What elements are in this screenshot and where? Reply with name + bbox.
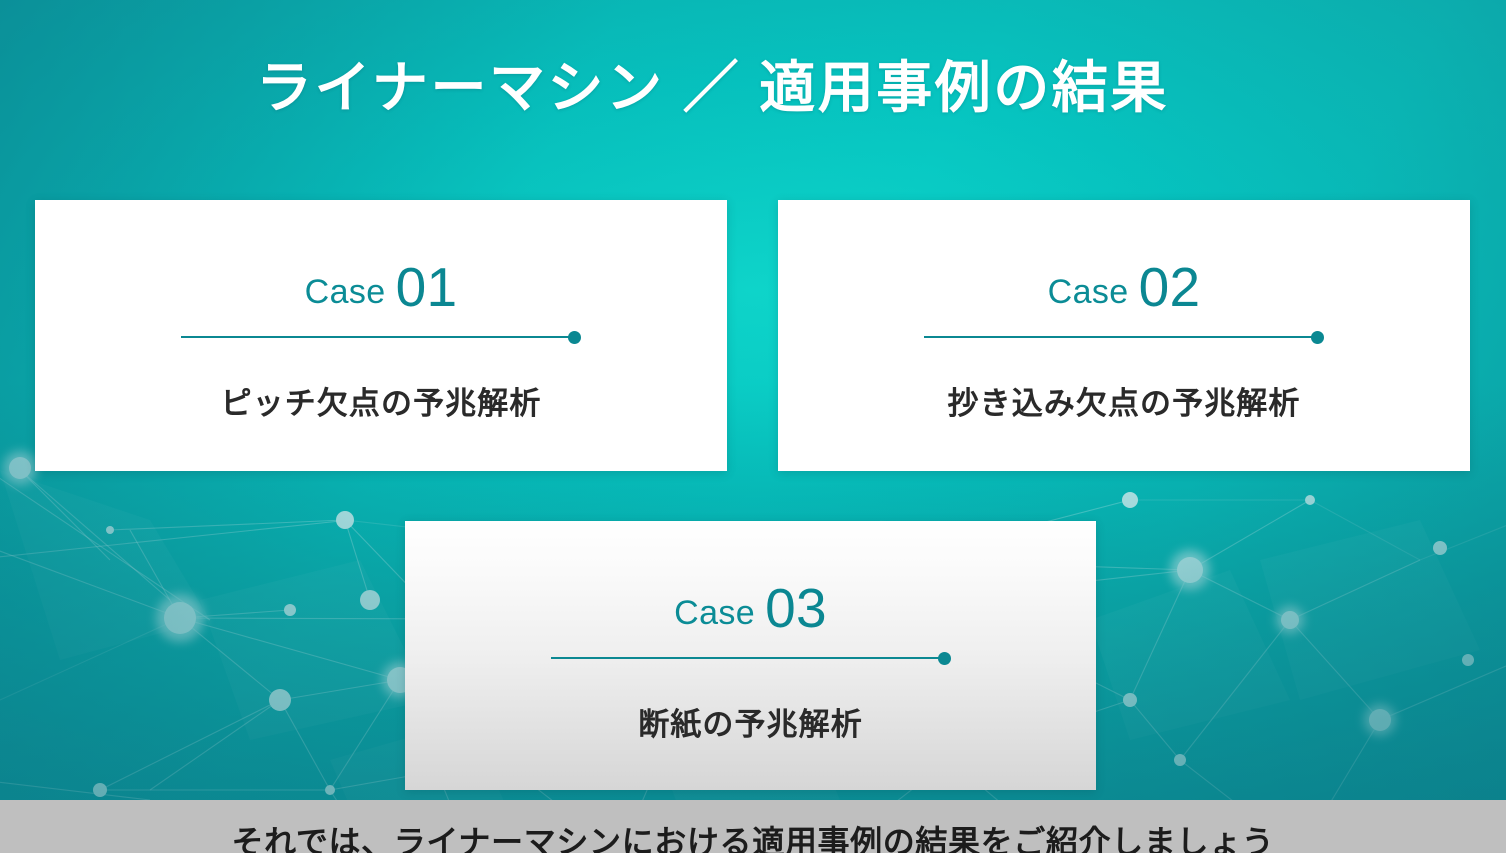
case-card-01-content: Case 01 ピッチ欠点の予兆解析	[181, 252, 581, 423]
subtitle-text: それでは、ライナーマシンにおける適用事例の結果をご紹介しましょう	[232, 826, 1275, 853]
case-card-02[interactable]: Case 02 抄き込み欠点の予兆解析	[778, 200, 1470, 471]
case-card-01-heading: Case 01	[181, 252, 581, 316]
case-card-03-rule	[551, 650, 951, 666]
subtitle-bar: それでは、ライナーマシンにおける適用事例の結果をご紹介しましょう	[0, 800, 1506, 853]
rule-line	[551, 657, 941, 659]
case-card-02-caption: 抄き込み欠点の予兆解析	[924, 378, 1324, 423]
page-title: ライナーマシン ／ 適用事例の結果	[256, 55, 1169, 121]
case-card-03-heading: Case 03	[551, 573, 951, 637]
case-card-01[interactable]: Case 01 ピッチ欠点の予兆解析	[35, 200, 727, 471]
case-card-01-caption: ピッチ欠点の予兆解析	[181, 378, 581, 423]
case-number: 02	[1139, 255, 1201, 319]
case-number: 03	[765, 576, 827, 640]
case-card-02-rule	[924, 329, 1324, 345]
rule-end-dot-icon	[568, 331, 581, 344]
case-card-02-heading: Case 02	[924, 252, 1324, 316]
case-label: Case	[305, 273, 386, 312]
rule-end-dot-icon	[938, 652, 951, 665]
rule-line	[924, 336, 1314, 338]
case-label: Case	[674, 594, 755, 633]
case-card-03-caption: 断紙の予兆解析	[551, 699, 951, 744]
case-card-03-content: Case 03 断紙の予兆解析	[551, 573, 951, 744]
slide-canvas: ライナーマシン ／ 適用事例の結果 Case 01 ピッチ欠点の予兆解析 Cas…	[0, 0, 1506, 853]
case-label: Case	[1048, 273, 1129, 312]
rule-end-dot-icon	[1311, 331, 1324, 344]
case-card-01-rule	[181, 329, 581, 345]
case-card-03[interactable]: Case 03 断紙の予兆解析	[405, 521, 1096, 790]
case-number: 01	[396, 255, 458, 319]
rule-line	[181, 336, 571, 338]
case-card-02-content: Case 02 抄き込み欠点の予兆解析	[924, 252, 1324, 423]
